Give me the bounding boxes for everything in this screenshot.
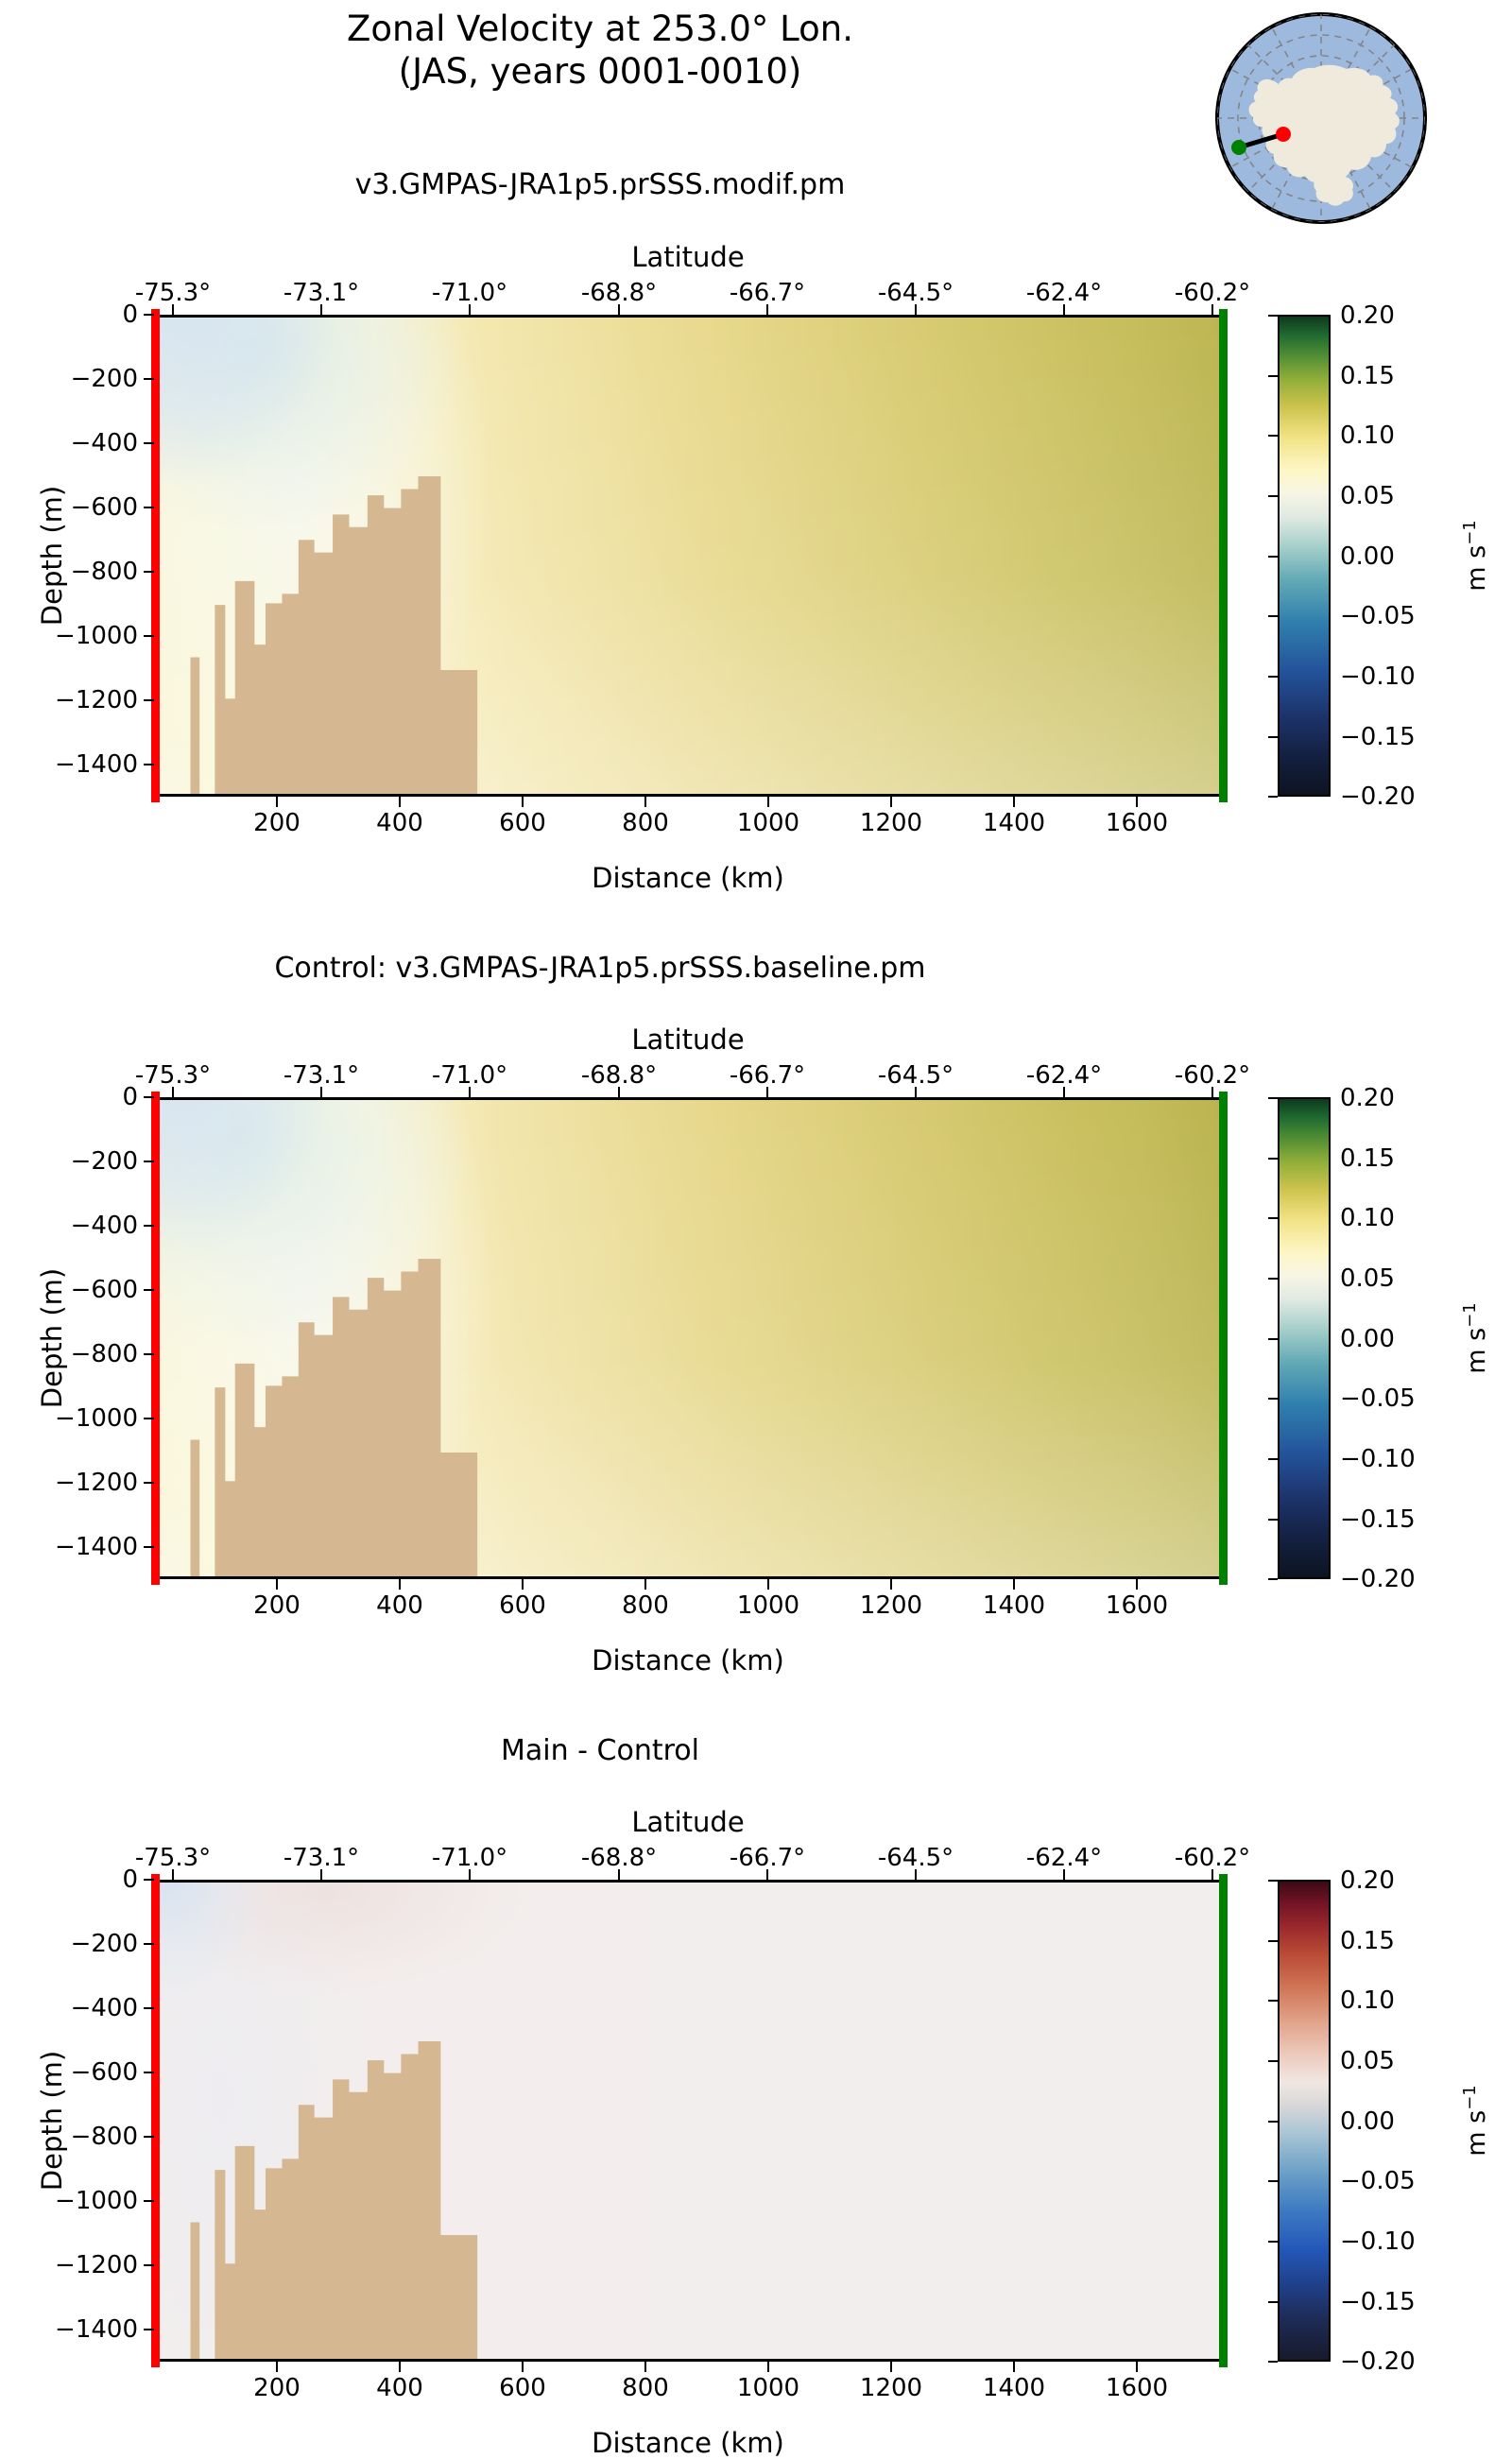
depth-tick bbox=[144, 1482, 154, 1484]
lat-ticklabel: -64.5° bbox=[878, 1844, 954, 1872]
lat-tick bbox=[469, 304, 471, 315]
distance-axis-label-control: Distance (km) bbox=[592, 1644, 784, 1677]
lat-ticklabel: -71.0° bbox=[432, 1061, 507, 1090]
distance-ticklabel: 1600 bbox=[1106, 2374, 1168, 2402]
colorbar-tick bbox=[1268, 1880, 1278, 1882]
distance-ticklabel: 1400 bbox=[983, 809, 1045, 837]
colorbar-ticklabel: 0.10 bbox=[1340, 1986, 1395, 2015]
colorbar-ticklabel: 0.00 bbox=[1340, 2107, 1395, 2136]
colorbar-unit-exponent: −1 bbox=[1460, 2085, 1480, 2110]
distance-tick bbox=[522, 2362, 524, 2372]
colorbar-ticklabel: 0.20 bbox=[1340, 301, 1395, 330]
distance-ticklabel: 200 bbox=[253, 809, 301, 837]
depth-ticklabel: 0 bbox=[122, 301, 138, 329]
depth-tick bbox=[144, 571, 154, 573]
colorbar-tick bbox=[1268, 2241, 1278, 2243]
colorbar-tick bbox=[1268, 1398, 1278, 1400]
colorbar-ticklabel: −0.05 bbox=[1340, 602, 1416, 630]
transect-start-marker-red bbox=[1276, 127, 1291, 142]
lat-tick bbox=[469, 1869, 471, 1880]
colorbar-tick bbox=[1268, 2180, 1278, 2182]
colorbar-ticklabel: −0.15 bbox=[1340, 2288, 1416, 2316]
lat-tick bbox=[469, 1087, 471, 1097]
colorbar-unit-label-difference: m s−1 bbox=[1460, 2085, 1491, 2157]
figure-canvas: Zonal Velocity at 253.0° Lon. (JAS, year… bbox=[0, 0, 1512, 2457]
colorbar-tick bbox=[1268, 1217, 1278, 1219]
transect-end-edge-difference bbox=[1219, 1874, 1228, 2367]
colorbar-ticklabel: 0.20 bbox=[1340, 1866, 1395, 1895]
distance-axis-label-difference: Distance (km) bbox=[592, 2427, 784, 2459]
cross-section-axes-difference bbox=[154, 1880, 1222, 2362]
transect-end-marker-green bbox=[1231, 140, 1246, 155]
distance-ticklabel: 400 bbox=[376, 809, 423, 837]
colorbar-tick bbox=[1268, 556, 1278, 558]
depth-tick bbox=[144, 1161, 154, 1162]
depth-tick bbox=[144, 1225, 154, 1227]
depth-ticklabel: −400 bbox=[71, 1994, 138, 2022]
depth-tick bbox=[144, 507, 154, 508]
distance-ticklabel: 800 bbox=[622, 1591, 669, 1620]
depth-ticklabel: −400 bbox=[71, 1212, 138, 1240]
figure-suptitle: Zonal Velocity at 253.0° Lon. (JAS, year… bbox=[0, 8, 1200, 93]
distance-tick bbox=[1136, 2362, 1138, 2372]
lat-tick bbox=[320, 1087, 322, 1097]
colorbar-ticklabel: −0.10 bbox=[1340, 1445, 1416, 1473]
colorbar-ticklabel: 0.05 bbox=[1340, 2047, 1395, 2075]
depth-ticklabel: −1400 bbox=[55, 750, 138, 779]
distance-tick bbox=[276, 1579, 278, 1590]
colorbar-ticklabel: −0.05 bbox=[1340, 2167, 1416, 2195]
distance-tick bbox=[399, 1579, 401, 1590]
distance-tick bbox=[1136, 797, 1138, 807]
distance-ticklabel: 200 bbox=[253, 2374, 301, 2402]
depth-tick bbox=[144, 314, 154, 316]
distance-ticklabel: 600 bbox=[499, 809, 546, 837]
colorbar-ticklabel: −0.20 bbox=[1340, 782, 1416, 811]
colorbar-ticklabel: 0.15 bbox=[1340, 1927, 1395, 1955]
colorbar-ticklabel: −0.10 bbox=[1340, 662, 1416, 691]
distance-tick bbox=[890, 797, 892, 807]
lat-ticklabel: -68.8° bbox=[581, 279, 657, 307]
distance-ticklabel: 800 bbox=[622, 809, 669, 837]
depth-ticklabel: −1200 bbox=[55, 1469, 138, 1497]
depth-tick bbox=[144, 1879, 154, 1881]
lat-tick bbox=[1211, 304, 1213, 315]
distance-tick bbox=[399, 797, 401, 807]
distance-tick bbox=[767, 797, 769, 807]
distance-tick bbox=[276, 2362, 278, 2372]
lat-tick bbox=[172, 1087, 174, 1097]
distance-ticklabel: 1200 bbox=[860, 2374, 922, 2402]
panel-title-control: Control: v3.GMPAS-JRA1p5.prSSS.baseline.… bbox=[0, 952, 1200, 985]
distance-axis-label-main: Distance (km) bbox=[592, 862, 784, 894]
depth-axis-label-main: Depth (m) bbox=[36, 486, 68, 626]
distance-tick bbox=[767, 1579, 769, 1590]
lat-ticklabel: -75.3° bbox=[135, 1061, 211, 1090]
distance-ticklabel: 1000 bbox=[737, 809, 799, 837]
lat-axis-label-main: Latitude bbox=[631, 241, 744, 273]
distance-tick bbox=[644, 1579, 646, 1590]
lat-tick bbox=[618, 304, 620, 315]
colorbar-tick bbox=[1268, 2121, 1278, 2123]
colorbar-ticklabel: −0.15 bbox=[1340, 723, 1416, 751]
colorbar-ticklabel: 0.00 bbox=[1340, 542, 1395, 571]
lat-ticklabel: -71.0° bbox=[432, 1844, 507, 1872]
colorbar-tick bbox=[1268, 736, 1278, 738]
depth-tick bbox=[144, 2072, 154, 2073]
depth-ticklabel: −800 bbox=[71, 1340, 138, 1368]
colorbar-tick bbox=[1268, 1097, 1278, 1099]
colorbar-ticklabel: 0.10 bbox=[1340, 421, 1395, 450]
lat-tick bbox=[1063, 304, 1065, 315]
depth-tick bbox=[144, 2136, 154, 2138]
colorbar-ticklabel: −0.20 bbox=[1340, 1565, 1416, 1593]
colorbar-tick bbox=[1268, 1158, 1278, 1160]
colorbar-tick bbox=[1268, 1458, 1278, 1460]
lat-ticklabel: -64.5° bbox=[878, 279, 954, 307]
colorbar-tick bbox=[1268, 1940, 1278, 1942]
colorbar-ticklabel: 0.10 bbox=[1340, 1204, 1395, 1232]
lat-tick bbox=[172, 304, 174, 315]
depth-ticklabel: −400 bbox=[71, 429, 138, 457]
lat-ticklabel: -60.2° bbox=[1175, 1844, 1250, 1872]
lat-ticklabel: -66.7° bbox=[730, 1061, 805, 1090]
distance-ticklabel: 200 bbox=[253, 1591, 301, 1620]
colorbar-tick bbox=[1268, 1278, 1278, 1280]
depth-tick bbox=[144, 2200, 154, 2202]
lat-tick bbox=[1211, 1869, 1213, 1880]
colorbar-ticklabel: −0.15 bbox=[1340, 1505, 1416, 1534]
lat-ticklabel: -62.4° bbox=[1026, 1844, 1102, 1872]
colorbar-unit-label-control: m s−1 bbox=[1460, 1302, 1491, 1374]
colorbar-tick bbox=[1268, 435, 1278, 437]
depth-tick bbox=[144, 764, 154, 765]
depth-tick bbox=[144, 635, 154, 637]
colorbar-tick bbox=[1268, 1519, 1278, 1521]
colorbar-unit-base: m s bbox=[1462, 545, 1491, 592]
depth-ticklabel: 0 bbox=[122, 1083, 138, 1111]
transect-start-edge-difference bbox=[151, 1874, 160, 2367]
colorbar-ticklabel: 0.20 bbox=[1340, 1084, 1395, 1112]
depth-tick bbox=[144, 2264, 154, 2266]
lat-tick bbox=[320, 304, 322, 315]
colorbar-unit-exponent: −1 bbox=[1460, 520, 1480, 545]
transect-end-edge-control bbox=[1219, 1092, 1228, 1585]
lat-ticklabel: -71.0° bbox=[432, 279, 507, 307]
depth-ticklabel: −1200 bbox=[55, 2251, 138, 2279]
lat-ticklabel: -68.8° bbox=[581, 1061, 657, 1090]
colorbar-tick bbox=[1268, 2301, 1278, 2303]
distance-ticklabel: 600 bbox=[499, 1591, 546, 1620]
depth-tick bbox=[144, 1289, 154, 1291]
distance-ticklabel: 1400 bbox=[983, 2374, 1045, 2402]
lat-ticklabel: -62.4° bbox=[1026, 1061, 1102, 1090]
lat-ticklabel: -60.2° bbox=[1175, 1061, 1250, 1090]
lat-tick bbox=[320, 1869, 322, 1880]
colorbar-unit-exponent: −1 bbox=[1460, 1302, 1480, 1328]
depth-tick bbox=[144, 699, 154, 701]
depth-axis-label-control: Depth (m) bbox=[36, 1268, 68, 1408]
distance-tick bbox=[522, 1579, 524, 1590]
depth-ticklabel: −800 bbox=[71, 2123, 138, 2151]
colorbar-unit-base: m s bbox=[1462, 2110, 1491, 2157]
distance-tick bbox=[399, 2362, 401, 2372]
distance-tick bbox=[1013, 1579, 1015, 1590]
distance-tick bbox=[767, 2362, 769, 2372]
lat-tick bbox=[1211, 1087, 1213, 1097]
distance-ticklabel: 1200 bbox=[860, 809, 922, 837]
colorbar-tick bbox=[1268, 1338, 1278, 1340]
lat-tick bbox=[766, 1087, 768, 1097]
depth-ticklabel: −1400 bbox=[55, 1533, 138, 1561]
depth-tick bbox=[144, 1943, 154, 1945]
suptitle-line-1: Zonal Velocity at 253.0° Lon. bbox=[347, 9, 853, 49]
distance-ticklabel: 1000 bbox=[737, 2374, 799, 2402]
colorbar-unit-base: m s bbox=[1462, 1328, 1491, 1374]
distance-ticklabel: 600 bbox=[499, 2374, 546, 2402]
colorbar-tick bbox=[1268, 2361, 1278, 2363]
depth-tick bbox=[144, 442, 154, 444]
lat-tick bbox=[618, 1869, 620, 1880]
depth-tick bbox=[144, 1418, 154, 1419]
suptitle-line-2: (JAS, years 0001-0010) bbox=[0, 50, 1200, 93]
depth-ticklabel: −800 bbox=[71, 558, 138, 586]
lat-ticklabel: -73.1° bbox=[283, 1061, 359, 1090]
panel-title-difference: Main - Control bbox=[0, 1734, 1200, 1767]
colorbar-tick bbox=[1268, 495, 1278, 497]
distance-ticklabel: 1000 bbox=[737, 1591, 799, 1620]
transect-start-edge-main bbox=[151, 309, 160, 802]
depth-ticklabel: −1400 bbox=[55, 2315, 138, 2344]
colorbar-unit-label-main: m s−1 bbox=[1460, 520, 1491, 592]
lat-ticklabel: -75.3° bbox=[135, 279, 211, 307]
lat-tick bbox=[1063, 1087, 1065, 1097]
colorbar-ticklabel: 0.00 bbox=[1340, 1325, 1395, 1353]
distance-tick bbox=[1136, 1579, 1138, 1590]
distance-tick bbox=[644, 797, 646, 807]
depth-tick bbox=[144, 1546, 154, 1548]
colorbar-tick bbox=[1268, 796, 1278, 798]
depth-tick bbox=[144, 1096, 154, 1098]
distance-ticklabel: 1600 bbox=[1106, 809, 1168, 837]
colorbar-tick bbox=[1268, 315, 1278, 317]
distance-tick bbox=[1013, 797, 1015, 807]
lat-axis-label-control: Latitude bbox=[631, 1023, 744, 1056]
transect-end-edge-main bbox=[1219, 309, 1228, 802]
colorbar-control bbox=[1278, 1097, 1331, 1579]
distance-tick bbox=[890, 2362, 892, 2372]
lat-ticklabel: -66.7° bbox=[730, 279, 805, 307]
bathymetry-main bbox=[157, 318, 1219, 794]
distance-tick bbox=[1013, 2362, 1015, 2372]
colorbar-tick bbox=[1268, 1578, 1278, 1580]
colorbar-ticklabel: 0.05 bbox=[1340, 482, 1395, 510]
lat-tick bbox=[915, 304, 917, 315]
colorbar-tick bbox=[1268, 375, 1278, 377]
depth-ticklabel: −1000 bbox=[55, 1404, 138, 1433]
lat-ticklabel: -60.2° bbox=[1175, 279, 1250, 307]
depth-tick bbox=[144, 2329, 154, 2330]
distance-ticklabel: 400 bbox=[376, 1591, 423, 1620]
depth-ticklabel: −600 bbox=[71, 2058, 138, 2087]
depth-ticklabel: −200 bbox=[71, 365, 138, 393]
depth-tick bbox=[144, 378, 154, 380]
distance-tick bbox=[522, 797, 524, 807]
depth-ticklabel: −1000 bbox=[55, 2187, 138, 2215]
distance-ticklabel: 400 bbox=[376, 2374, 423, 2402]
antarctica-polar-inset bbox=[1212, 9, 1430, 227]
depth-ticklabel: −1000 bbox=[55, 622, 138, 650]
depth-ticklabel: −600 bbox=[71, 1276, 138, 1304]
colorbar-tick bbox=[1268, 676, 1278, 678]
lat-axis-label-difference: Latitude bbox=[631, 1806, 744, 1838]
distance-ticklabel: 1200 bbox=[860, 1591, 922, 1620]
bathymetry-difference bbox=[157, 1883, 1219, 2359]
distance-ticklabel: 1600 bbox=[1106, 1591, 1168, 1620]
lat-ticklabel: -68.8° bbox=[581, 1844, 657, 1872]
distance-tick bbox=[890, 1579, 892, 1590]
lat-ticklabel: -62.4° bbox=[1026, 279, 1102, 307]
cross-section-axes-control bbox=[154, 1097, 1222, 1579]
colorbar-tick bbox=[1268, 2060, 1278, 2062]
depth-ticklabel: 0 bbox=[122, 1866, 138, 1894]
colorbar-tick bbox=[1268, 2000, 1278, 2002]
lat-tick bbox=[915, 1869, 917, 1880]
colorbar-ticklabel: 0.15 bbox=[1340, 1144, 1395, 1173]
lat-ticklabel: -66.7° bbox=[730, 1844, 805, 1872]
lat-tick bbox=[766, 1869, 768, 1880]
colorbar-difference bbox=[1278, 1880, 1331, 2362]
depth-axis-label-difference: Depth (m) bbox=[36, 2051, 68, 2191]
distance-ticklabel: 1400 bbox=[983, 1591, 1045, 1620]
depth-ticklabel: −200 bbox=[71, 1147, 138, 1176]
lat-tick bbox=[915, 1087, 917, 1097]
lat-tick bbox=[618, 1087, 620, 1097]
lat-ticklabel: -64.5° bbox=[878, 1061, 954, 1090]
transect-start-edge-control bbox=[151, 1092, 160, 1585]
lat-tick bbox=[172, 1869, 174, 1880]
depth-tick bbox=[144, 2007, 154, 2009]
colorbar-ticklabel: −0.05 bbox=[1340, 1384, 1416, 1413]
distance-tick bbox=[276, 797, 278, 807]
panel-title-main: v3.GMPAS-JRA1p5.prSSS.modif.pm bbox=[0, 168, 1200, 201]
bathymetry-control bbox=[157, 1100, 1219, 1576]
depth-tick bbox=[144, 1353, 154, 1355]
distance-ticklabel: 800 bbox=[622, 2374, 669, 2402]
depth-ticklabel: −200 bbox=[71, 1930, 138, 1958]
colorbar-main bbox=[1278, 315, 1331, 797]
colorbar-ticklabel: 0.05 bbox=[1340, 1264, 1395, 1293]
lat-ticklabel: -73.1° bbox=[283, 279, 359, 307]
distance-tick bbox=[644, 2362, 646, 2372]
colorbar-ticklabel: −0.20 bbox=[1340, 2347, 1416, 2376]
lat-tick bbox=[766, 304, 768, 315]
colorbar-ticklabel: −0.10 bbox=[1340, 2227, 1416, 2256]
lat-ticklabel: -73.1° bbox=[283, 1844, 359, 1872]
depth-ticklabel: −600 bbox=[71, 493, 138, 522]
colorbar-tick bbox=[1268, 615, 1278, 617]
colorbar-ticklabel: 0.15 bbox=[1340, 362, 1395, 390]
lat-tick bbox=[1063, 1869, 1065, 1880]
cross-section-axes-main bbox=[154, 315, 1222, 797]
lat-ticklabel: -75.3° bbox=[135, 1844, 211, 1872]
depth-ticklabel: −1200 bbox=[55, 686, 138, 714]
